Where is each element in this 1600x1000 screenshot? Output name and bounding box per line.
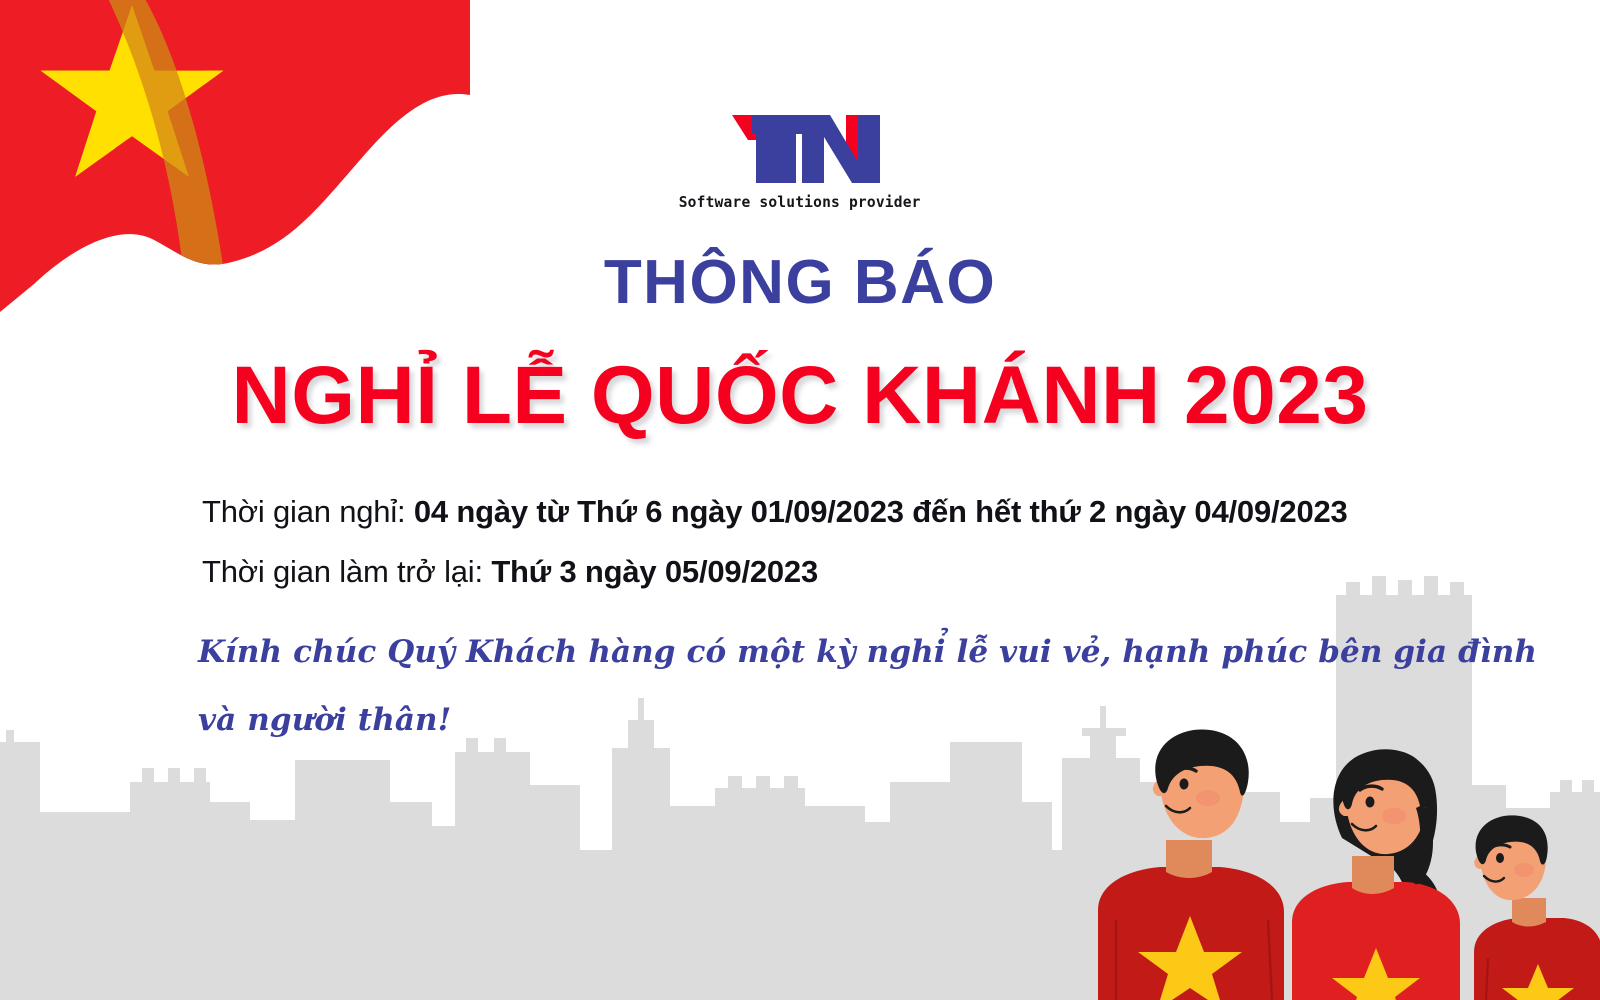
holiday-period-value: 04 ngày từ Thứ 6 ngày 01/09/2023 đến hết… <box>414 494 1348 529</box>
person-woman <box>1292 749 1460 1000</box>
return-date-line: Thời gian làm trở lại: Thứ 3 ngày 05/09/… <box>202 554 818 590</box>
holiday-period-label: Thời gian nghỉ: <box>202 494 414 529</box>
logo-tagline: Software solutions provider <box>679 193 921 211</box>
brand-logo: Software solutions provider <box>0 110 1600 211</box>
wish-line-1: Kính chúc Quý Khách hàng có một kỳ nghỉ … <box>198 634 1537 670</box>
return-date-label: Thời gian làm trở lại: <box>202 554 491 589</box>
announcement-title: NGHỈ LỄ QUỐC KHÁNH 2023 <box>0 352 1600 441</box>
return-date-value: Thứ 3 ngày 05/09/2023 <box>491 554 818 589</box>
person-child <box>1474 815 1600 1000</box>
wish-line-2: và người thân! <box>198 702 451 738</box>
poster-canvas: Software solutions provider THÔNG BÁO NG… <box>0 0 1600 1000</box>
announcement-eyebrow: THÔNG BÁO <box>0 250 1600 315</box>
holiday-period-line: Thời gian nghỉ: 04 ngày từ Thứ 6 ngày 01… <box>202 494 1348 530</box>
person-man <box>1098 729 1284 1000</box>
family-illustration-icon <box>1080 720 1600 1000</box>
tn-monogram-icon <box>710 110 890 188</box>
